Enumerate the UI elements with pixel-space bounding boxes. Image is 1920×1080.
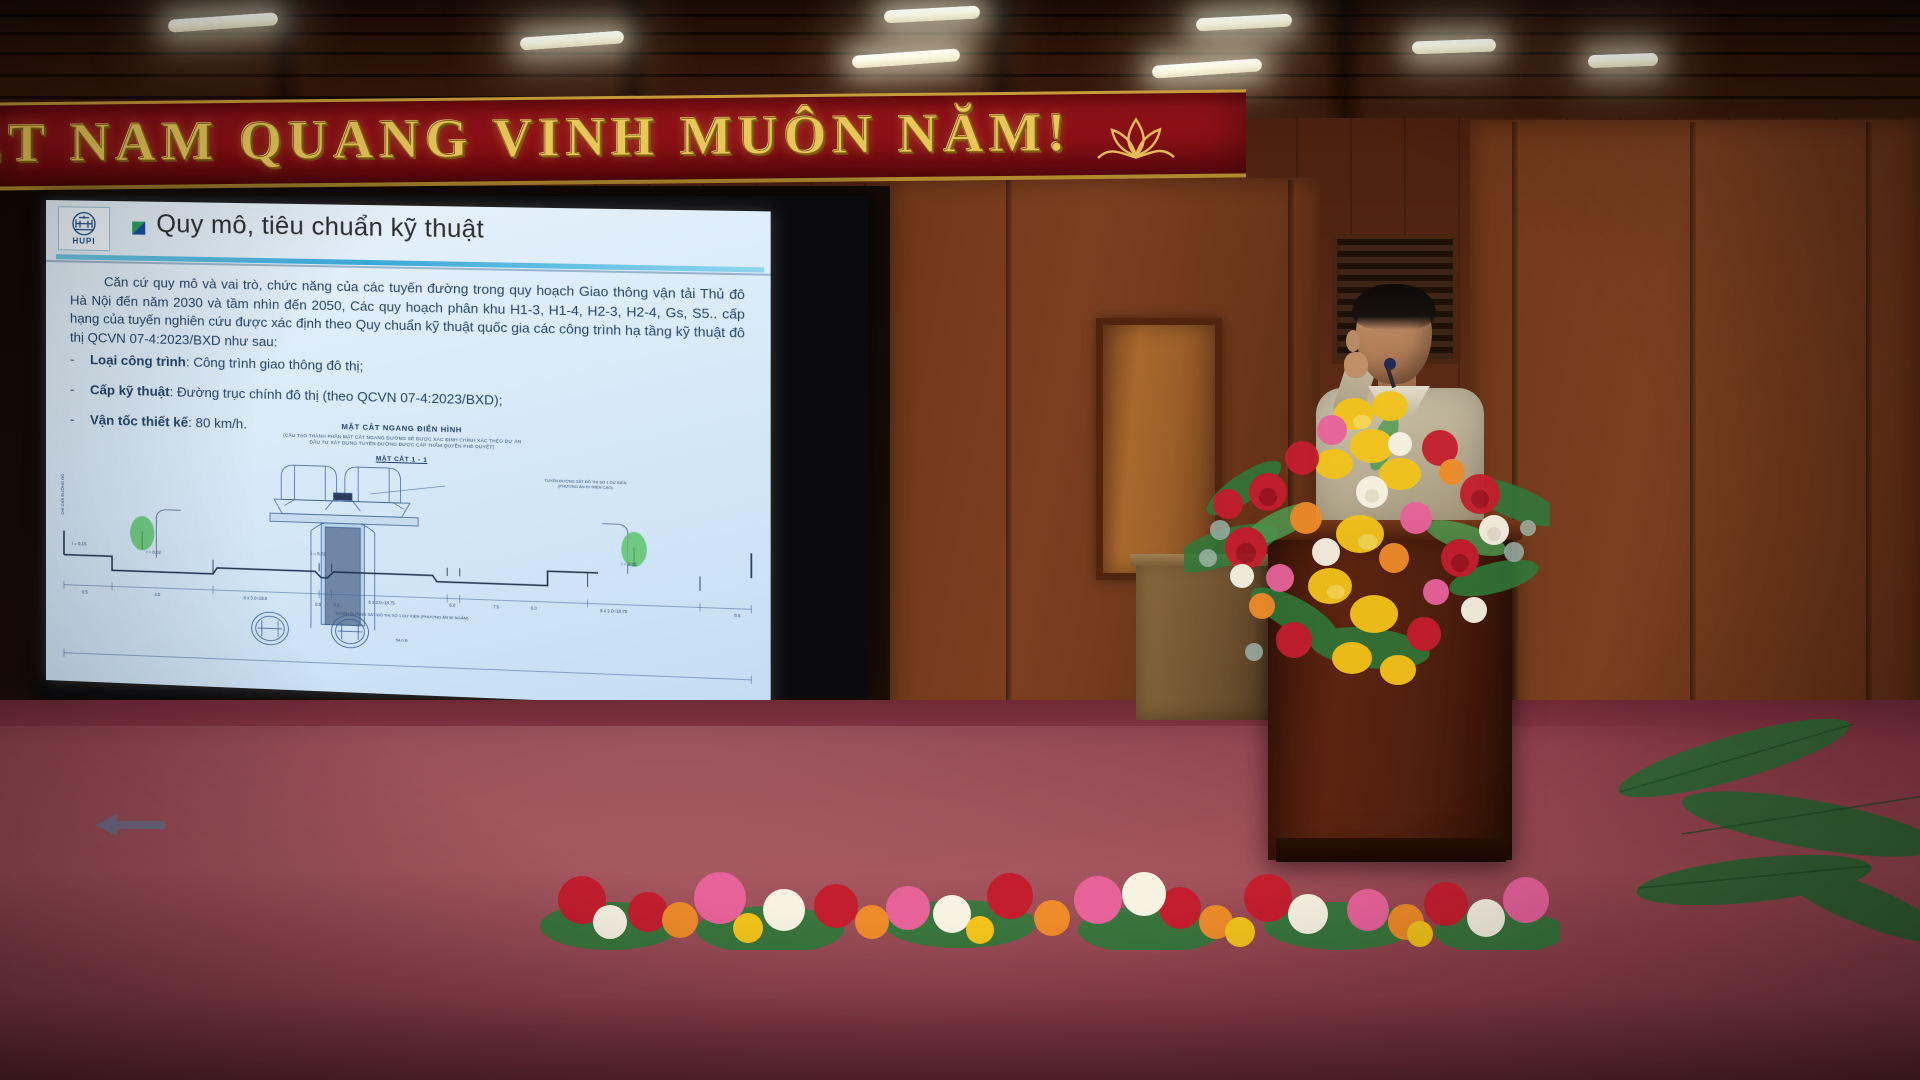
hupi-logo: HUPI bbox=[58, 206, 110, 251]
dimension-label: 0.5 bbox=[315, 602, 321, 607]
dimension-label: 0.5 bbox=[82, 589, 88, 594]
list-item: - Cấp kỹ thuật: Đường trục chính đô thị … bbox=[70, 381, 745, 416]
dimension-label: 4.0 bbox=[154, 592, 160, 597]
bullet-dash: - bbox=[70, 381, 80, 398]
cross-section-drawing: MẶT CẮT NGANG ĐIỂN HÌNH (CẤU TẠO THÀNH P… bbox=[46, 414, 771, 710]
slope-label: i = 0.02 bbox=[311, 551, 326, 557]
bullet-value: : Công trình giao thông đô thị; bbox=[186, 354, 363, 373]
hupi-logo-caption: HUPI bbox=[72, 237, 95, 245]
bullet-label: Loại công trình bbox=[90, 352, 186, 369]
slope-label: i = 0.02 bbox=[621, 561, 636, 567]
drawing-geometry bbox=[46, 414, 771, 710]
speaker-ear bbox=[1346, 330, 1360, 352]
title-bullet-icon bbox=[132, 221, 145, 234]
slide-paragraph: Căn cứ quy mô và vai trò, chức năng của … bbox=[70, 272, 745, 362]
foreground-flowers bbox=[540, 838, 1560, 950]
dimension-label: 6 x 3.0=18.0 bbox=[243, 595, 267, 601]
speaker-hair bbox=[1352, 284, 1436, 330]
slope-label: i = 0.02 bbox=[146, 549, 161, 555]
bullet-label: Cấp kỹ thuật bbox=[90, 382, 170, 399]
banner-text: ỆT NAM QUANG VINH MUÔN NĂM! bbox=[0, 100, 1072, 175]
dimension-label: 6.0 bbox=[531, 606, 537, 611]
hupi-logo-icon bbox=[69, 211, 99, 238]
ceiling-light bbox=[1588, 53, 1658, 68]
slide: HUPI Quy mô, tiêu chuẩn kỹ thuật Căn cứ … bbox=[46, 200, 771, 710]
presentation-scene: ỆT NAM QUANG VINH MUÔN NĂM! HUPI bbox=[0, 0, 1920, 1080]
slide-header: HUPI Quy mô, tiêu chuẩn kỹ thuật bbox=[46, 200, 771, 270]
bullet-value: : Đường trục chính đô thị (theo QCVN 07-… bbox=[170, 384, 503, 408]
flower-bouquet bbox=[1184, 352, 1550, 700]
wall-banner: ỆT NAM QUANG VINH MUÔN NĂM! bbox=[0, 89, 1246, 190]
slope-label: i = 0.15 bbox=[72, 541, 87, 546]
projection-screen: HUPI Quy mô, tiêu chuẩn kỹ thuật Căn cứ … bbox=[40, 196, 868, 698]
floor-arrow-marking bbox=[95, 812, 165, 838]
dimension-label: 7.5 bbox=[493, 604, 499, 609]
ceiling-light bbox=[884, 5, 981, 23]
lotus-emblem-icon bbox=[1088, 111, 1184, 164]
dimension-label: 0.5 bbox=[734, 613, 740, 618]
slide-title: Quy mô, tiêu chuẩn kỹ thuật bbox=[156, 210, 484, 245]
dimension-label: 0.5 bbox=[334, 602, 340, 607]
dimension-label: 6 x 2.0=18.75 bbox=[369, 600, 395, 606]
dimension-label: 6 x 2.0=18.75 bbox=[600, 608, 627, 614]
dimension-label: 6.0 bbox=[449, 603, 455, 608]
bullet-dash: - bbox=[70, 351, 80, 368]
left-vertical-label: CHỈ GIỚI ĐƯỜNG ĐỎ bbox=[60, 474, 65, 515]
